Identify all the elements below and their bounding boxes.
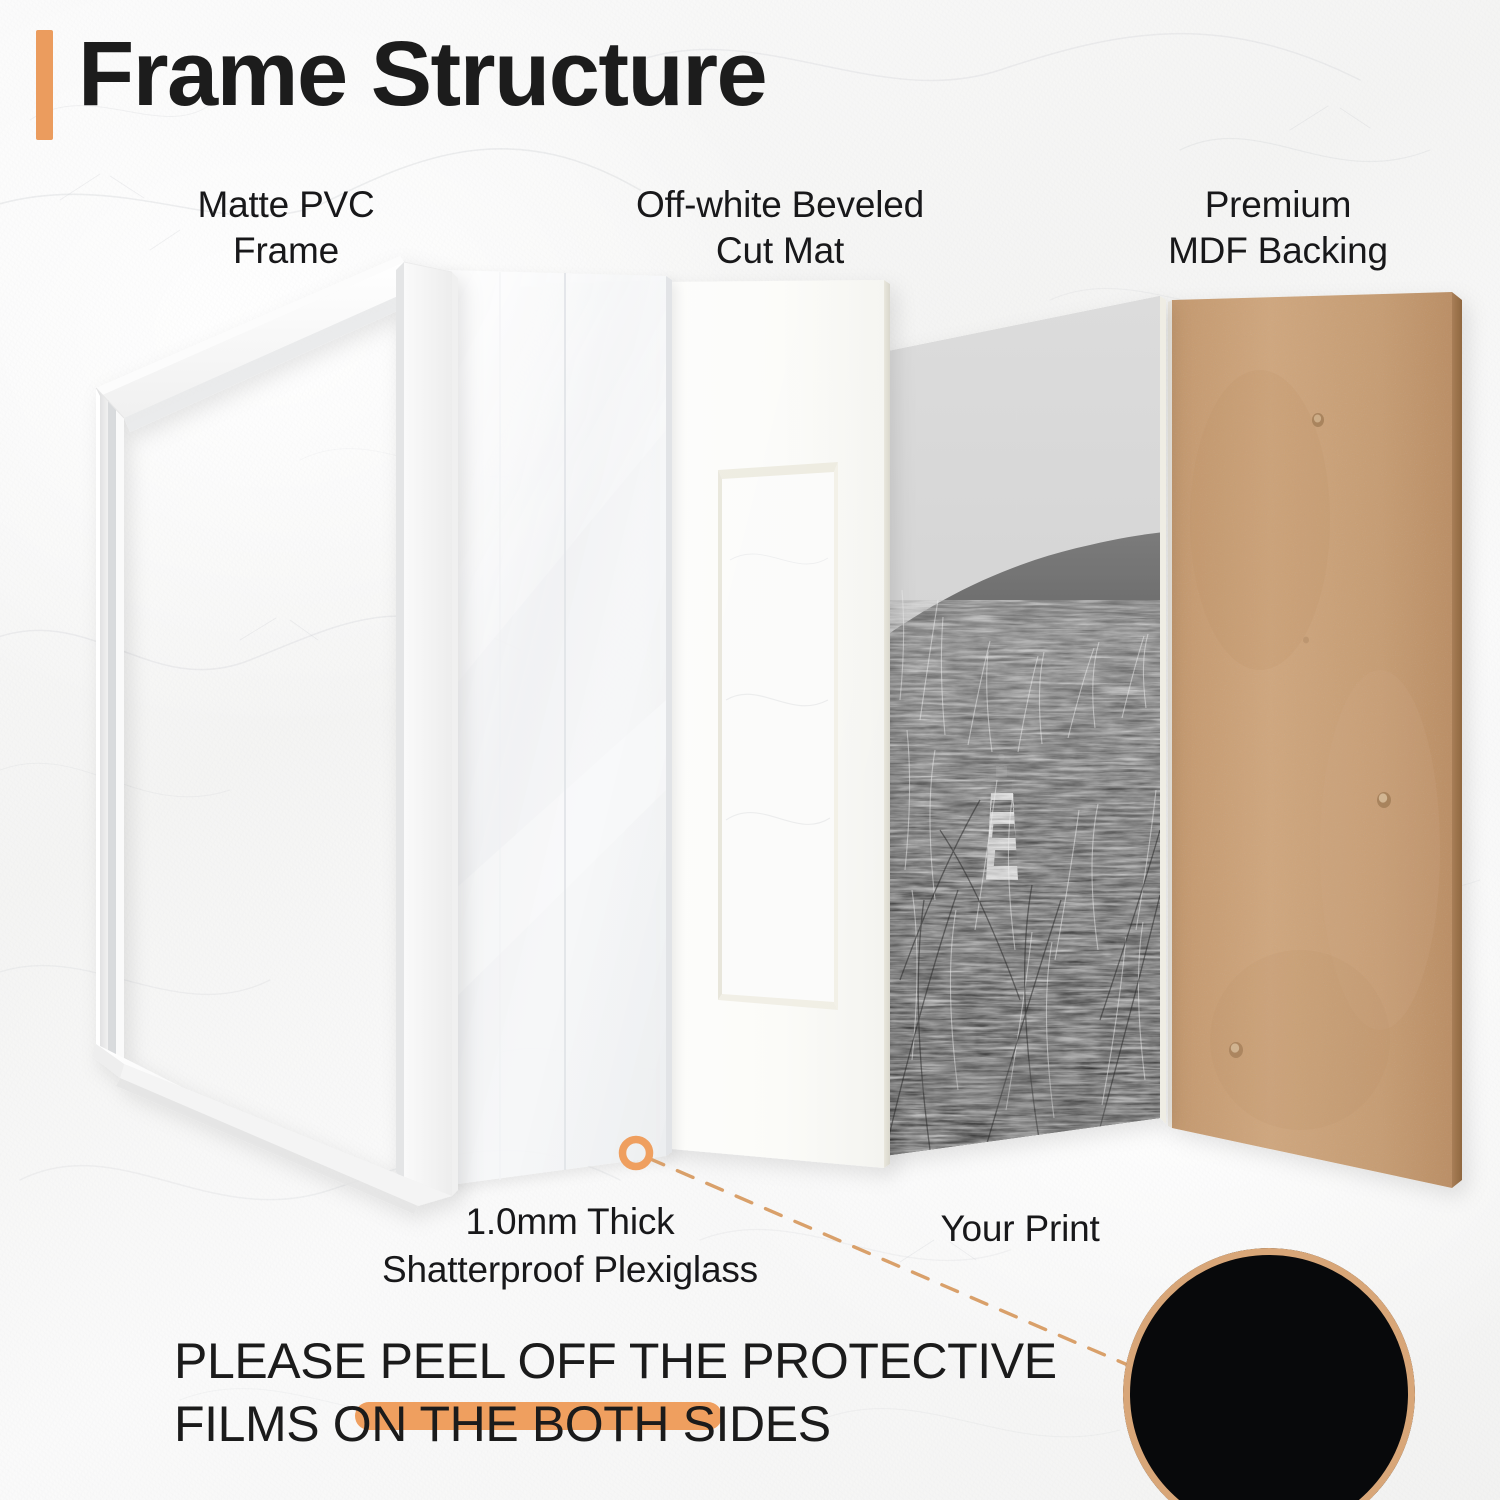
label-cut-mat-line1: Off-white Beveled bbox=[530, 182, 1030, 228]
layer-plexiglass bbox=[439, 270, 672, 1186]
warning-text: PLEASE PEEL OFF THE PROTECTIVE FILMS ON … bbox=[174, 1330, 1074, 1456]
warning-line-1: PLEASE PEEL OFF THE PROTECTIVE bbox=[174, 1330, 1074, 1393]
layer-mat-board bbox=[656, 280, 890, 1168]
label-pvc-frame: Matte PVC Frame bbox=[106, 182, 466, 275]
label-your-print: Your Print bbox=[900, 1205, 1140, 1253]
label-cut-mat: Off-white Beveled Cut Mat bbox=[530, 182, 1030, 275]
warning-highlight-text: BOTH SIDES bbox=[532, 1396, 831, 1452]
label-cut-mat-line2: Cut Mat bbox=[530, 228, 1030, 274]
infographic-canvas: Frame Structure bbox=[0, 0, 1500, 1500]
layer-pvc-frame bbox=[92, 256, 458, 1214]
label-plexiglass-line2: Shatterproof Plexiglass bbox=[300, 1246, 840, 1294]
label-mdf-backing-line1: Premium bbox=[1078, 182, 1478, 228]
label-mdf-backing-line2: MDF Backing bbox=[1078, 228, 1478, 274]
label-mdf-backing: Premium MDF Backing bbox=[1078, 182, 1478, 275]
label-plexiglass: 1.0mm Thick Shatterproof Plexiglass bbox=[300, 1198, 840, 1294]
layer-mdf-backing bbox=[1168, 280, 1462, 1200]
warning-line-2: FILMS ON THE BOTH SIDES bbox=[174, 1393, 1074, 1456]
label-pvc-frame-line2: Frame bbox=[106, 228, 466, 274]
label-plexiglass-line1: 1.0mm Thick bbox=[300, 1198, 840, 1246]
layer-print bbox=[878, 290, 1170, 1170]
label-pvc-frame-line1: Matte PVC bbox=[106, 182, 466, 228]
